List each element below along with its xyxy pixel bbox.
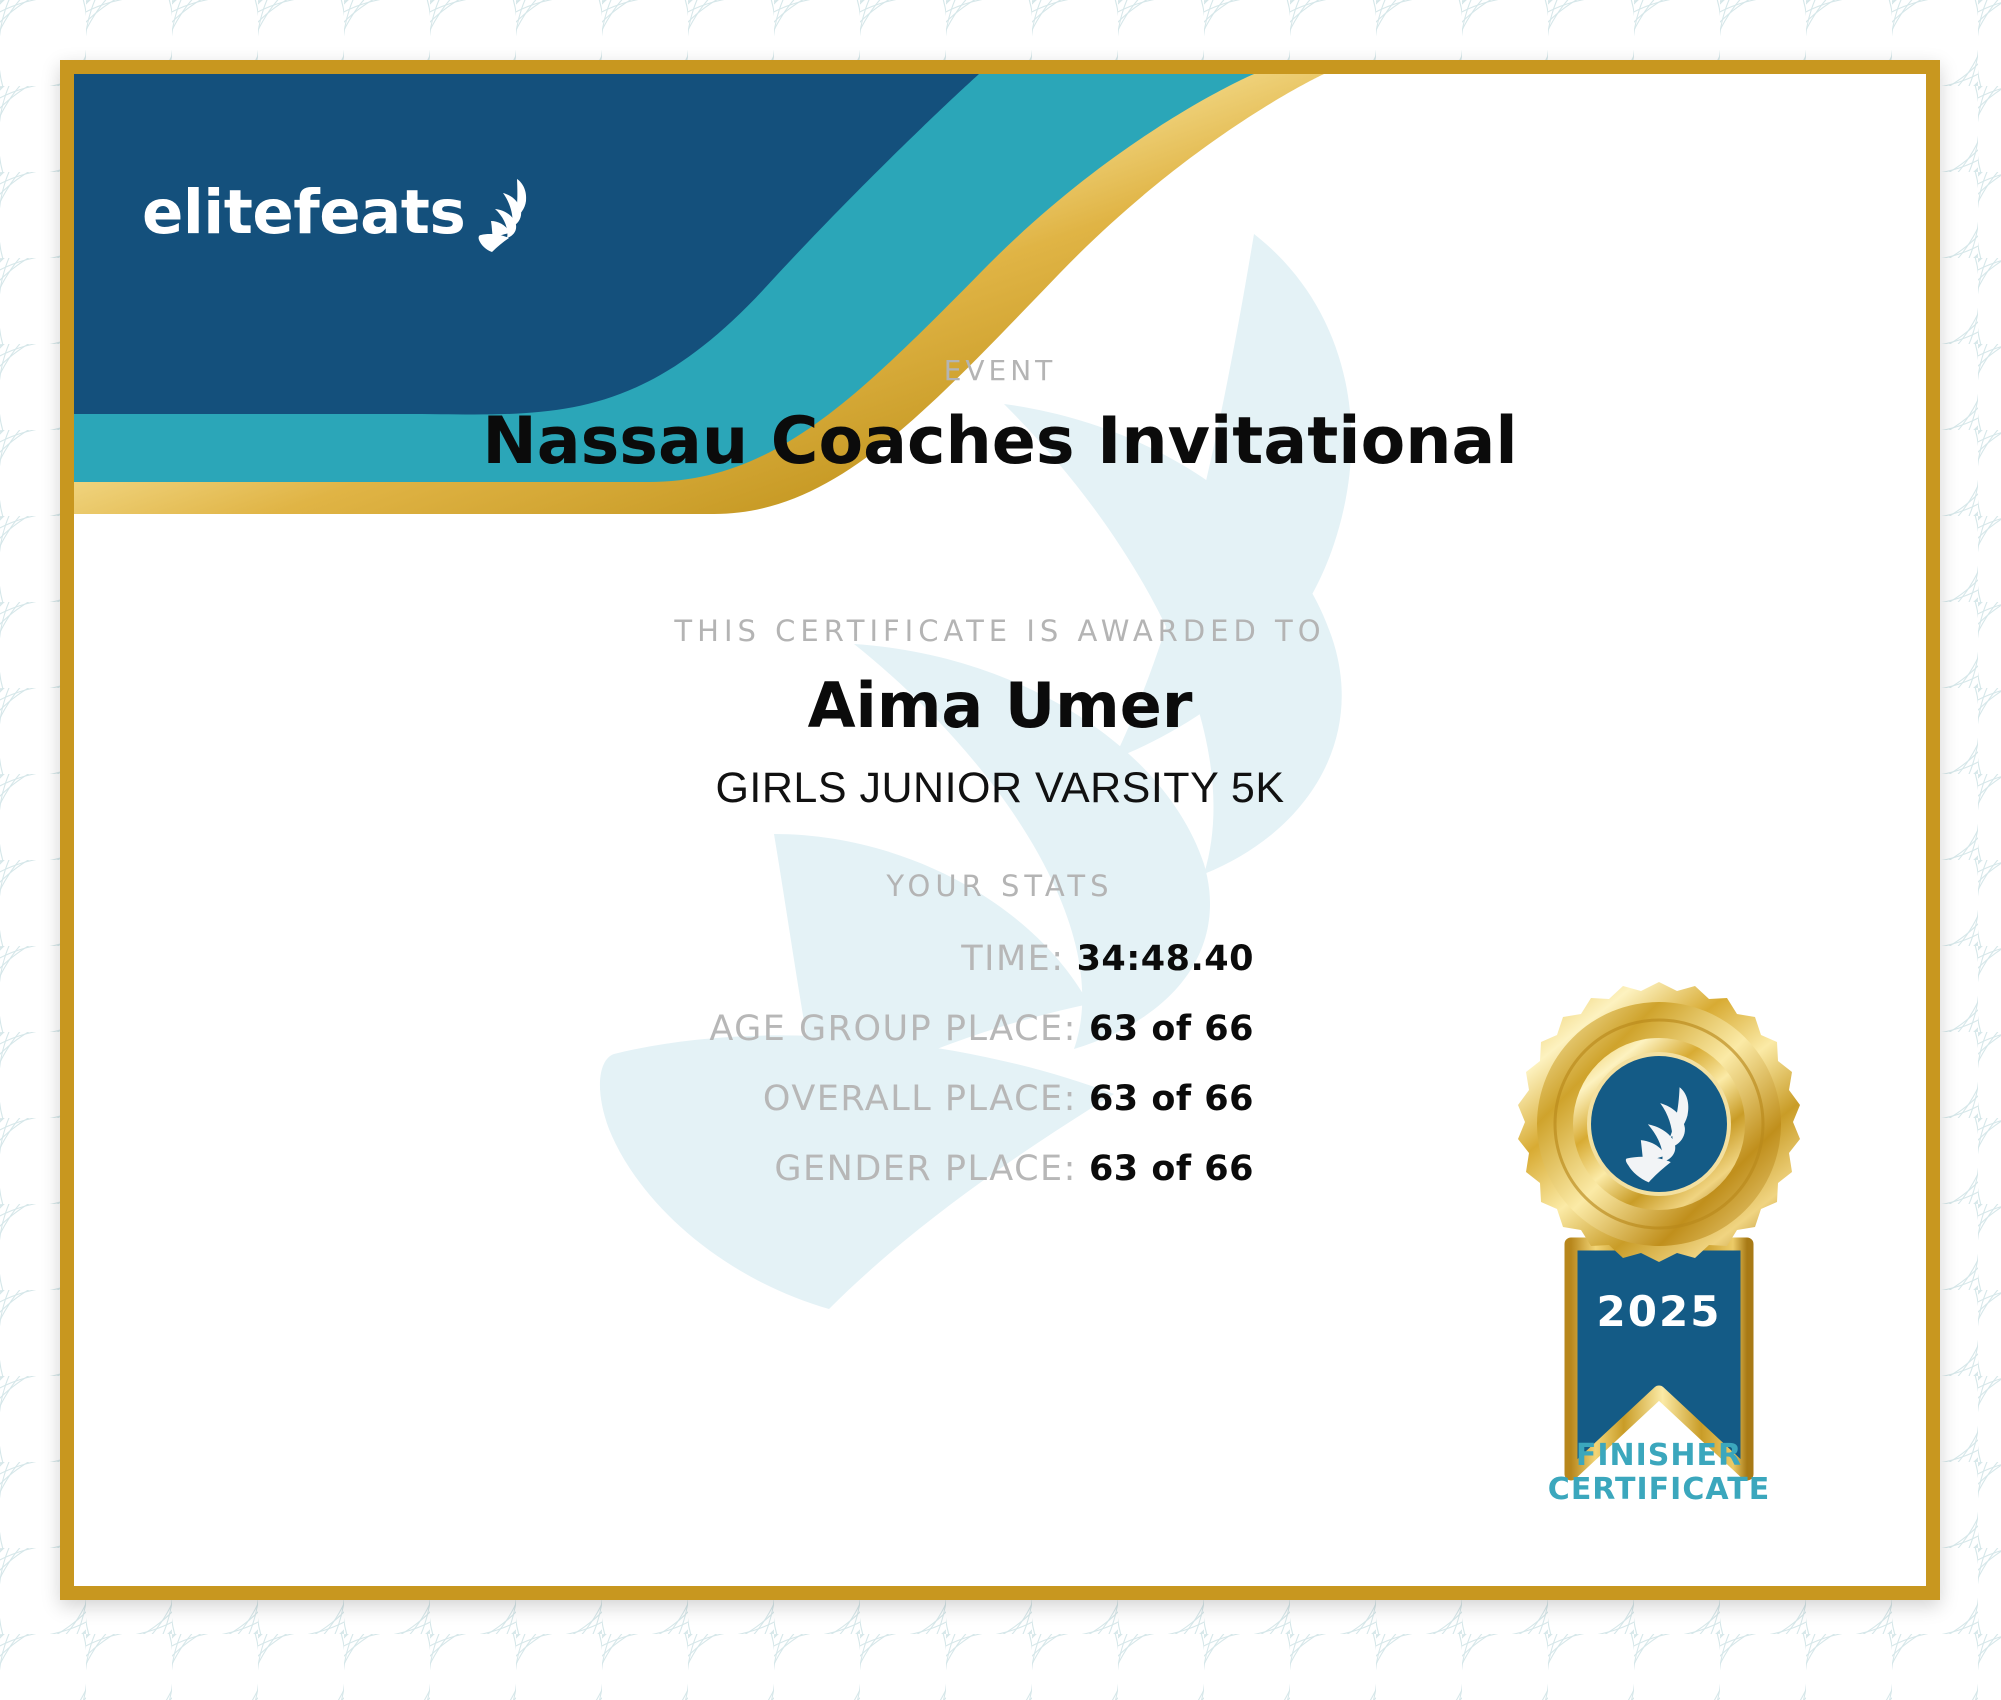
medal-caption: FINISHER CERTIFICATE <box>1499 1439 1819 1506</box>
event-label: EVENT <box>74 354 1926 387</box>
medal-caption-line2: CERTIFICATE <box>1499 1473 1819 1507</box>
stat-key: TIME: <box>961 939 1064 979</box>
brand-logo: elitefeats <box>142 169 537 255</box>
certificate-content: EVENT Nassau Coaches Invitational THIS C… <box>74 74 1926 1586</box>
recipient-name: Aima Umer <box>74 669 1926 742</box>
stat-row-overall-place: OVERALL PLACE: 63 of 66 <box>74 1079 1254 1129</box>
brand-logo-text: elitefeats <box>142 182 465 243</box>
winged-foot-icon <box>473 177 537 255</box>
event-name: Nassau Coaches Invitational <box>74 404 1926 479</box>
certificate-body: elitefeats <box>74 74 1926 1586</box>
stats-label: YOUR STATS <box>74 869 1926 903</box>
stat-value: 63 of 66 <box>1089 1079 1254 1119</box>
stat-key: AGE GROUP PLACE: <box>709 1009 1077 1049</box>
stat-row-time: TIME: 34:48.40 <box>74 939 1254 989</box>
stat-row-age-group-place: AGE GROUP PLACE: 63 of 66 <box>74 1009 1254 1059</box>
stat-key: OVERALL PLACE: <box>763 1079 1077 1119</box>
stat-row-gender-place: GENDER PLACE: 63 of 66 <box>74 1149 1254 1199</box>
medal-caption-line1: FINISHER <box>1499 1439 1819 1473</box>
medal-year: 2025 <box>1597 1287 1722 1336</box>
certificate-frame: elitefeats <box>60 60 1940 1600</box>
stat-value: 34:48.40 <box>1077 939 1254 979</box>
awarded-to-label: THIS CERTIFICATE IS AWARDED TO <box>74 614 1926 648</box>
certificate-page: elitefeats <box>0 0 2001 1700</box>
stat-key: GENDER PLACE: <box>774 1149 1077 1189</box>
race-category: GIRLS JUNIOR VARSITY 5K <box>74 764 1926 813</box>
stat-value: 63 of 66 <box>1089 1149 1254 1189</box>
stats-list: TIME: 34:48.40 AGE GROUP PLACE: 63 of 66… <box>74 939 1254 1219</box>
stat-value: 63 of 66 <box>1089 1009 1254 1049</box>
